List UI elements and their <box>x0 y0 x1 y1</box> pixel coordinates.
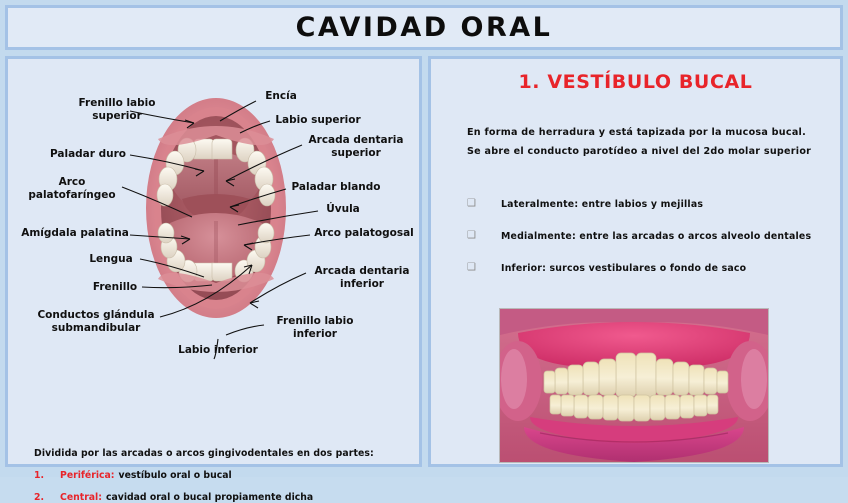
figure-label-paladar-blando: Paladar blando <box>289 181 383 194</box>
division-note-value-2: cavidad oral o bucal propiamente dicha <box>106 492 313 503</box>
intraoral-photo-graphic <box>500 309 768 462</box>
list-item-key: Medialmente: <box>501 231 576 242</box>
figure-label-arco-palatogosal: Arco palatogosal <box>312 227 416 240</box>
division-note-number-1: 1. <box>34 470 60 481</box>
slide-title-bar: CAVIDAD ORAL <box>5 5 843 50</box>
division-note: Dividida por las arcadas o arcos gingivo… <box>34 448 394 503</box>
figure-label-frenillo: Frenillo <box>88 281 142 294</box>
left-panel: Frenillo labio superior Encía Labio supe… <box>5 56 422 467</box>
list-item-key: Inferior: <box>501 263 546 274</box>
division-note-key-2: Central: <box>60 492 102 503</box>
figure-label-arcada-dentaria-inferior: Arcada dentaria inferior <box>310 265 414 290</box>
boundaries-list: ❑ Lateralmente: entre labios y mejillas … <box>467 197 822 293</box>
figure-label-conductos-glandula-submandibular: Conductos glándula submandibular <box>34 309 158 334</box>
section-heading: 1. VESTÍBULO BUCAL <box>431 71 840 93</box>
slide-root: CAVIDAD ORAL <box>0 0 848 477</box>
figure-label-amigdala-palatina: Amígdala palatina <box>20 227 130 240</box>
list-item: ❑ Lateralmente: entre labios y mejillas <box>467 197 822 213</box>
oral-cavity-figure: Frenillo labio superior Encía Labio supe… <box>8 59 419 369</box>
list-item-key: Lateralmente: <box>501 199 578 210</box>
figure-label-arcada-dentaria-superior: Arcada dentaria superior <box>304 134 408 159</box>
square-bullet-icon: ❑ <box>467 229 501 243</box>
list-item-value: entre labios y mejillas <box>578 199 703 210</box>
division-note-number-2: 2. <box>34 492 60 503</box>
list-item-value: entre las arcadas o arcos alveolo dental… <box>576 231 811 242</box>
figure-label-lengua: Lengua <box>84 253 138 266</box>
division-note-value-1: vestíbulo oral o bucal <box>119 470 232 481</box>
section-paragraph: En forma de herradura y está tapizada po… <box>467 123 815 161</box>
figure-label-arco-palatofaringeo: Arco palatofaríngeo <box>22 176 122 201</box>
intraoral-clinical-photo <box>499 308 769 463</box>
figure-label-frenillo-labio-superior: Frenillo labio superior <box>64 97 170 122</box>
division-note-heading: Dividida por las arcadas o arcos gingivo… <box>34 448 394 459</box>
figure-label-paladar-duro: Paladar duro <box>46 148 130 161</box>
page-title: CAVIDAD ORAL <box>296 12 553 43</box>
list-item: ❑ Medialmente: entre las arcadas o arcos… <box>467 229 822 245</box>
figure-label-frenillo-labio-inferior: Frenillo labio inferior <box>266 315 364 340</box>
division-note-key-1: Periférica: <box>60 470 115 481</box>
figure-label-uvula: Úvula <box>320 203 366 216</box>
right-panel: 1. VESTÍBULO BUCAL En forma de herradura… <box>428 56 843 467</box>
figure-label-labio-inferior: Labio inferior <box>173 344 263 357</box>
list-item: ❑ Inferior: surcos vestibulares o fondo … <box>467 261 822 277</box>
list-item-value: surcos vestibulares o fondo de saco <box>546 263 746 274</box>
figure-label-labio-superior: Labio superior <box>272 114 364 127</box>
figure-label-encia: Encía <box>257 90 305 103</box>
division-note-item-1: 1. Periférica:vestíbulo oral o bucal <box>34 470 394 481</box>
square-bullet-icon: ❑ <box>467 197 501 211</box>
square-bullet-icon: ❑ <box>467 261 501 275</box>
division-note-item-2: 2. Central:cavidad oral o bucal propiame… <box>34 492 394 503</box>
